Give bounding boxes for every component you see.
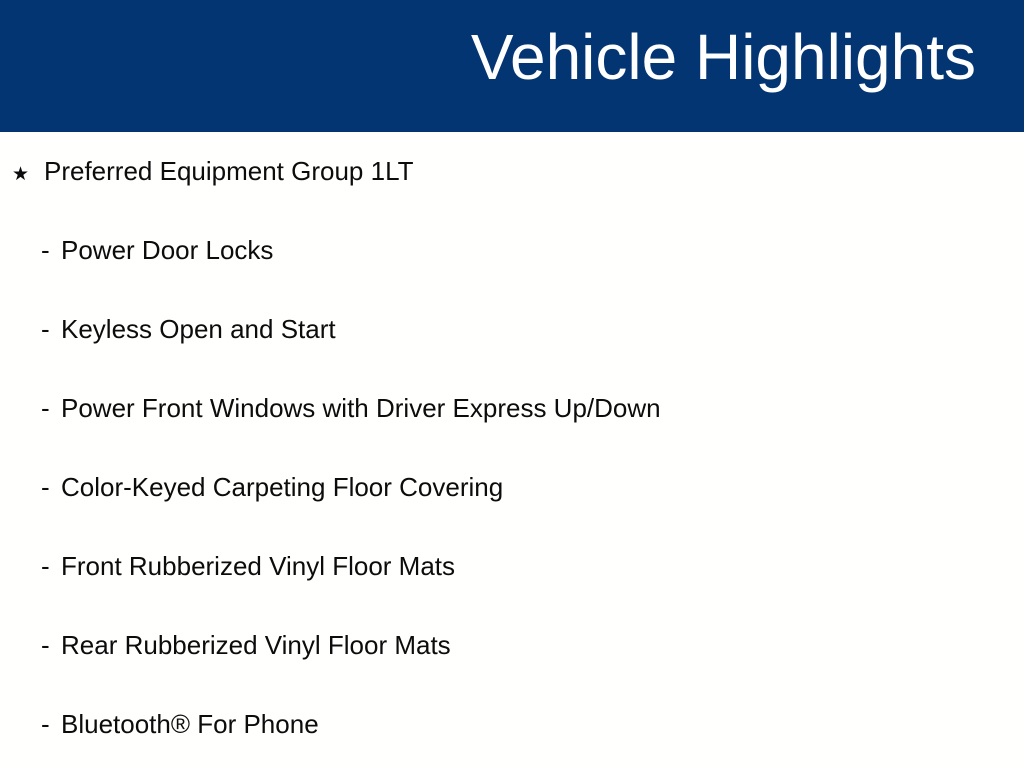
star-icon: ★ <box>12 165 44 184</box>
bullet-list: ★Preferred Equipment Group 1LT-Power Doo… <box>0 132 1024 768</box>
list-item: -Bluetooth® For Phone <box>41 711 319 737</box>
dash-icon: - <box>41 237 61 263</box>
list-item-label: Rear Rubberized Vinyl Floor Mats <box>61 632 451 658</box>
dash-icon: - <box>41 632 61 658</box>
list-item: ★Preferred Equipment Group 1LT <box>12 158 413 184</box>
list-item-label: Keyless Open and Start <box>61 316 336 342</box>
list-item-label: Power Door Locks <box>61 237 273 263</box>
dash-icon: - <box>41 395 61 421</box>
dash-icon: - <box>41 711 61 737</box>
list-item: -Power Door Locks <box>41 237 273 263</box>
list-item-label: Power Front Windows with Driver Express … <box>61 395 661 421</box>
list-item: -Keyless Open and Start <box>41 316 336 342</box>
list-item-label: Bluetooth® For Phone <box>61 711 319 737</box>
list-item: -Rear Rubberized Vinyl Floor Mats <box>41 632 451 658</box>
page-title: Vehicle Highlights <box>471 25 976 89</box>
list-item: -Front Rubberized Vinyl Floor Mats <box>41 553 455 579</box>
dash-icon: - <box>41 316 61 342</box>
list-item: -Color-Keyed Carpeting Floor Covering <box>41 474 503 500</box>
dash-icon: - <box>41 553 61 579</box>
list-item-label: Color-Keyed Carpeting Floor Covering <box>61 474 503 500</box>
slide-root: Vehicle Highlights ★Preferred Equipment … <box>0 0 1024 768</box>
list-item-label: Front Rubberized Vinyl Floor Mats <box>61 553 455 579</box>
list-item-label: Preferred Equipment Group 1LT <box>44 158 413 184</box>
header-banner: Vehicle Highlights <box>0 0 1024 132</box>
dash-icon: - <box>41 474 61 500</box>
list-item: -Power Front Windows with Driver Express… <box>41 395 661 421</box>
